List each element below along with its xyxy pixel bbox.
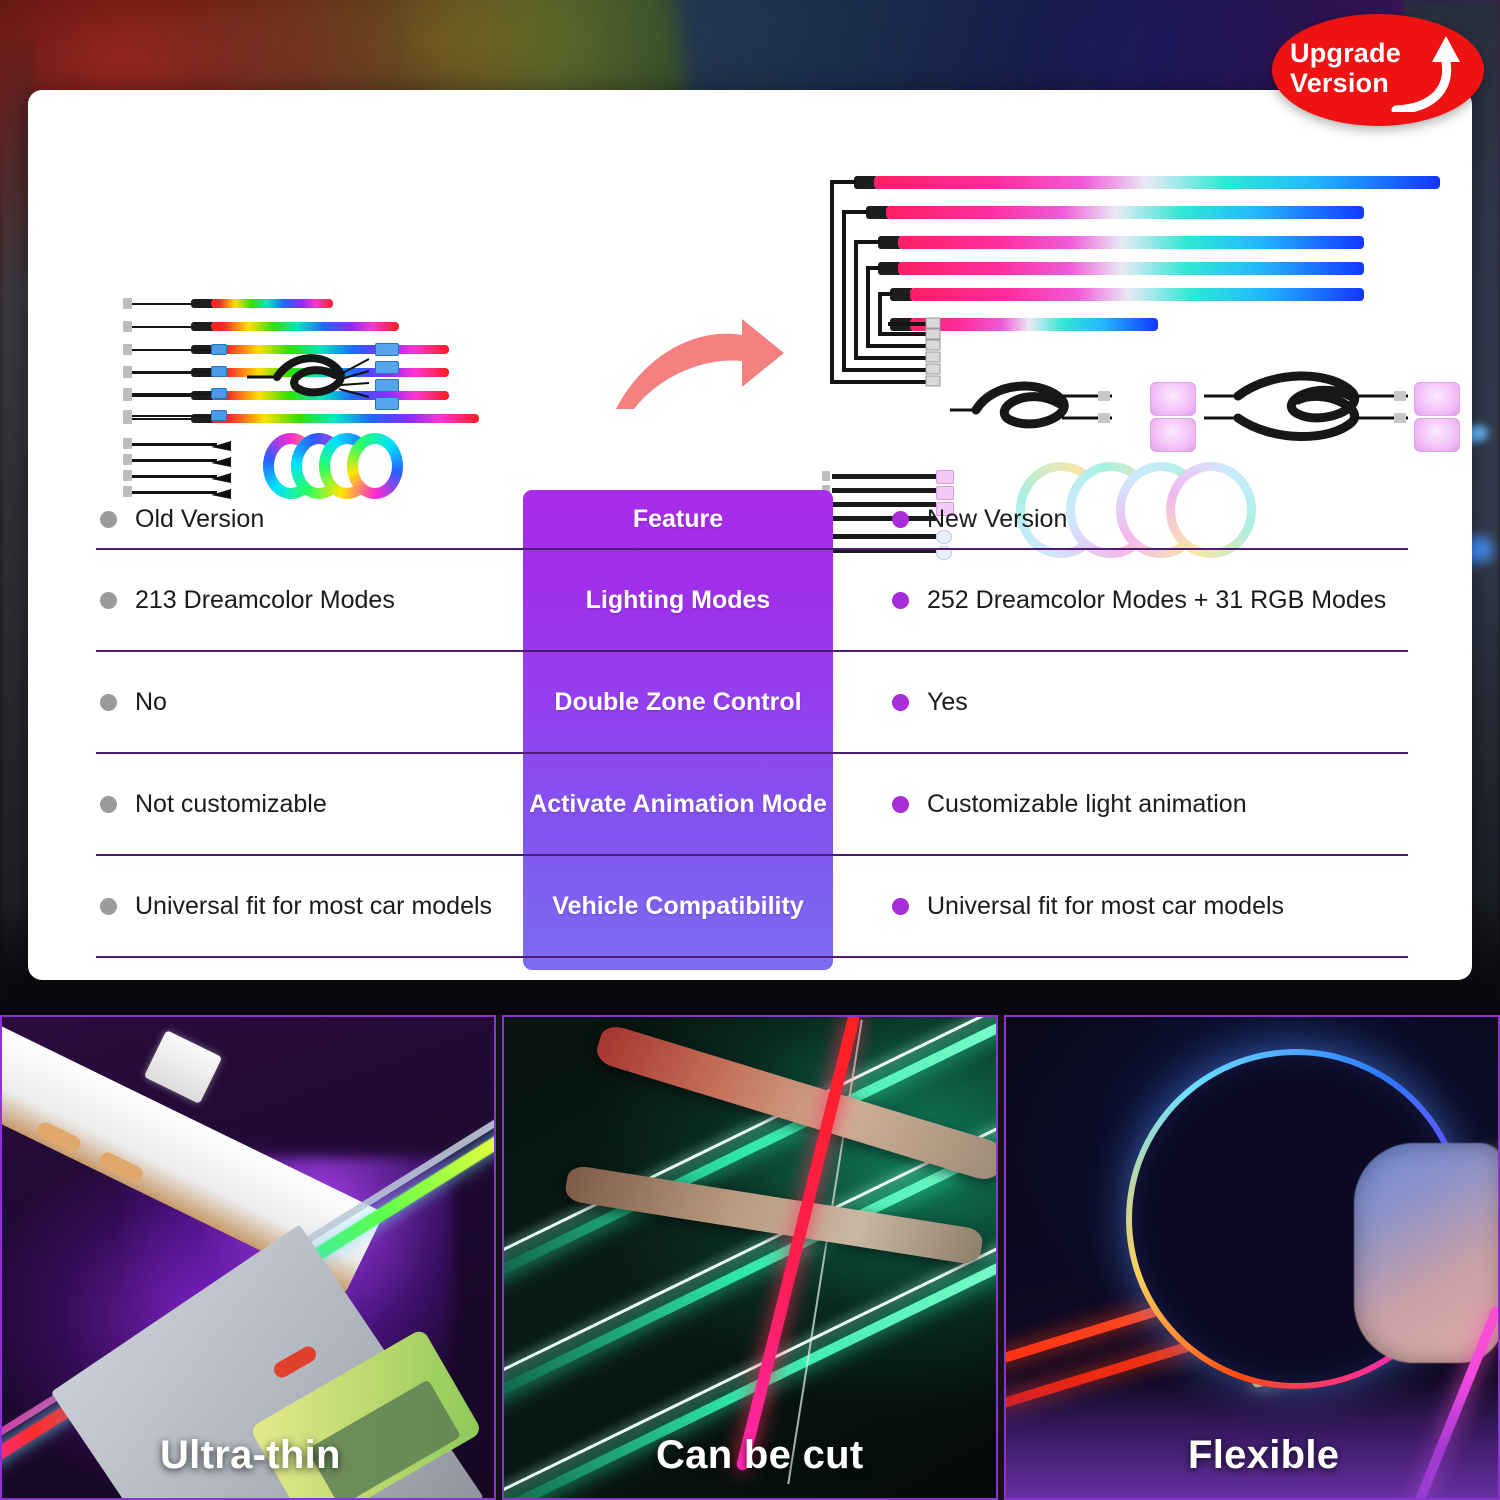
new-version-dot-icon <box>892 898 909 915</box>
row-cell-new: Customizable light animation <box>892 754 1404 854</box>
row-feature-label: Activate Animation Mode <box>529 790 827 819</box>
row-cell-new: Universal fit for most car models <box>892 856 1404 956</box>
comparison-table: Old Version Feature New Version 213 Drea… <box>92 490 1412 970</box>
old-version-dot-icon <box>100 592 117 609</box>
table-row: Universal fit for most car models Vehicl… <box>92 856 1412 956</box>
feature-panels: Ultra-thin Can be cut Flexible <box>0 1015 1500 1500</box>
table-divider <box>96 854 1408 856</box>
panel-label-ultra-thin: Ultra-thin <box>2 1433 494 1478</box>
table-row: Not customizable Activate Animation Mode… <box>92 754 1412 854</box>
upgrade-version-badge: Upgrade Version <box>1272 14 1484 126</box>
row-cell-old: Not customizable <box>100 754 510 854</box>
row-feature-label: Lighting Modes <box>586 586 771 615</box>
led-module <box>1150 382 1196 416</box>
row-cell-old: Universal fit for most car models <box>100 856 510 956</box>
row-new-value: Universal fit for most car models <box>927 892 1284 921</box>
old-version-dot-icon <box>100 511 117 528</box>
header-cell-old: Old Version <box>100 490 510 548</box>
row-new-value: Yes <box>927 688 968 717</box>
table-divider <box>96 752 1408 754</box>
feature-panel-can-be-cut: Can be cut <box>502 1015 998 1500</box>
old-version-header-label: Old Version <box>135 505 264 534</box>
old-version-accessories <box>123 335 483 485</box>
extension-cable-icon <box>948 366 1148 446</box>
scissor-blade-upper <box>593 1022 998 1183</box>
row-cell-feature: Activate Animation Mode <box>523 754 833 854</box>
row-old-value: 213 Dreamcolor Modes <box>135 586 395 615</box>
led-module <box>1414 382 1460 416</box>
row-old-value: No <box>135 688 167 717</box>
header-cell-new: New Version <box>892 490 1404 548</box>
table-divider <box>96 650 1408 652</box>
row-old-value: Not customizable <box>135 790 327 819</box>
panel-label-flexible: Flexible <box>1006 1433 1498 1478</box>
feature-header-label: Feature <box>633 505 723 534</box>
table-header-row: Old Version Feature New Version <box>92 490 1412 548</box>
curved-right-arrow-icon <box>610 305 790 415</box>
old-version-dot-icon <box>100 796 117 813</box>
row-new-value: Customizable light animation <box>927 790 1247 819</box>
table-divider <box>96 956 1408 958</box>
old-version-dot-icon <box>100 898 117 915</box>
extension-cable-icon <box>1202 366 1442 446</box>
row-old-value: Universal fit for most car models <box>135 892 492 921</box>
row-cell-feature: Vehicle Compatibility <box>523 856 833 956</box>
comparison-card: Old Version Feature New Version 213 Drea… <box>28 90 1472 980</box>
hand-holding-strip <box>1354 1143 1500 1363</box>
table-row: 213 Dreamcolor Modes Lighting Modes 252 … <box>92 550 1412 650</box>
led-module <box>1150 418 1196 452</box>
feature-panel-flexible: Flexible <box>1004 1015 1500 1500</box>
row-new-value: 252 Dreamcolor Modes + 31 RGB Modes <box>927 586 1386 615</box>
new-version-dot-icon <box>892 592 909 609</box>
row-feature-label: Double Zone Control <box>554 688 801 717</box>
new-version-dot-icon <box>892 511 909 528</box>
row-cell-feature: Lighting Modes <box>523 550 833 650</box>
panel-label-can-be-cut: Can be cut <box>504 1433 996 1478</box>
smd-led-chip <box>144 1030 223 1104</box>
new-version-dot-icon <box>892 694 909 711</box>
row-feature-label: Vehicle Compatibility <box>552 892 803 921</box>
header-cell-feature: Feature <box>523 490 833 548</box>
row-cell-new: Yes <box>892 652 1404 752</box>
power-cable-icon <box>243 341 373 413</box>
table-row: No Double Zone Control Yes <box>92 652 1412 752</box>
row-cell-feature: Double Zone Control <box>523 652 833 752</box>
feature-panel-ultra-thin: Ultra-thin <box>0 1015 496 1500</box>
new-version-dot-icon <box>892 796 909 813</box>
row-cell-new: 252 Dreamcolor Modes + 31 RGB Modes <box>892 550 1404 650</box>
old-version-dot-icon <box>100 694 117 711</box>
curved-up-arrow-icon <box>1388 32 1460 112</box>
led-module <box>1414 418 1460 452</box>
row-cell-old: 213 Dreamcolor Modes <box>100 550 510 650</box>
new-version-header-label: New Version <box>927 505 1067 534</box>
row-cell-old: No <box>100 652 510 752</box>
table-divider <box>96 548 1408 550</box>
